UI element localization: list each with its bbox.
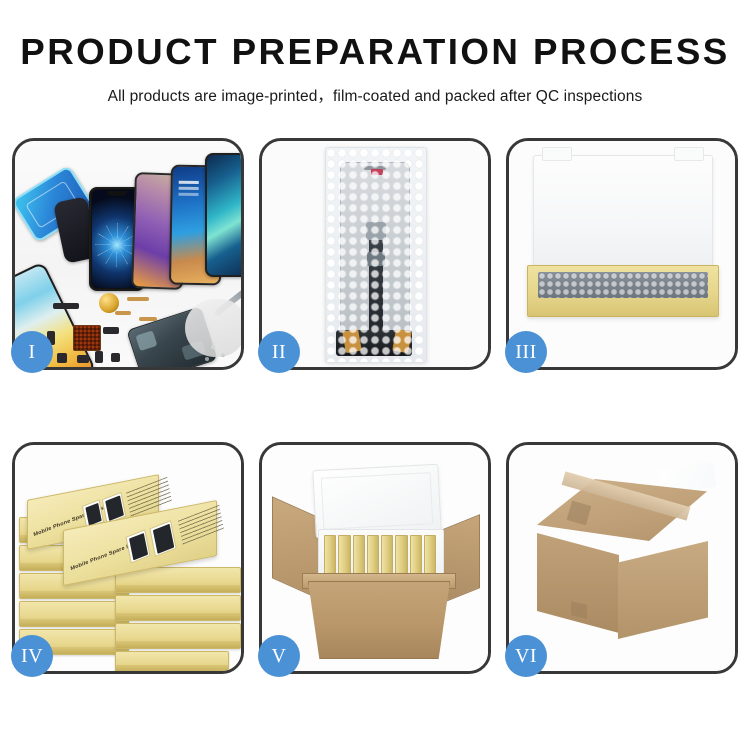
chip-part-2 (57, 353, 67, 363)
flex-cable-1 (127, 297, 149, 301)
screen-notch (107, 191, 127, 196)
process-step-grid: I (12, 138, 738, 674)
gold-box-stack: Mobile Phone Spare Parts Mobile Phone Sp… (19, 463, 241, 663)
chip-part-1 (53, 303, 79, 309)
bubble-wrap-bag (325, 147, 427, 363)
carton-body (308, 581, 450, 659)
step-badge-4: IV (11, 635, 53, 677)
carton-packing-photo (262, 445, 488, 671)
carton-right-face (618, 541, 708, 639)
foam-lid-open (312, 464, 441, 539)
driver-ic-chip (367, 252, 385, 266)
step-badge-5: V (258, 635, 300, 677)
gold-box-r3 (115, 623, 241, 649)
bubble-wrapped-screen-photo (262, 141, 488, 367)
step-4-image: Mobile Phone Spare Parts Mobile Phone Sp… (15, 445, 241, 671)
process-step-2: II (259, 138, 491, 370)
step-5-image (262, 445, 488, 671)
gold-box-r4 (115, 651, 229, 671)
process-step-6: VI (506, 442, 738, 674)
process-step-5: V (259, 442, 491, 674)
stacked-gold-boxes-photo: Mobile Phone Spare Parts Mobile Phone Sp… (15, 445, 241, 671)
step-3-image (509, 141, 735, 367)
white-foam-lid (533, 155, 713, 281)
hand-silhouette (185, 299, 241, 357)
step-badge-6-label: VI (515, 646, 537, 666)
step-badge-3: III (505, 331, 547, 373)
process-step-3: III (506, 138, 738, 370)
chip-part-5 (111, 353, 120, 362)
step-badge-2: II (258, 331, 300, 373)
bubble-wrapped-contents (538, 272, 708, 298)
teal-swirl-phone (205, 153, 241, 277)
gold-box-tray (527, 265, 719, 317)
step-6-image (509, 445, 735, 671)
process-step-4: Mobile Phone Spare Parts Mobile Phone Sp… (12, 442, 244, 674)
gold-box-r2 (115, 595, 241, 621)
display-flex-cable (369, 236, 383, 332)
gold-coil-part (99, 293, 119, 313)
page-title: PRODUCT PREPARATION PROCESS (0, 34, 750, 70)
phone-parts-photo (15, 141, 241, 367)
screw-3 (205, 357, 209, 361)
step-1-image (15, 141, 241, 367)
step-badge-1-label: I (28, 342, 35, 362)
sealed-carton-photo (509, 445, 735, 671)
step-badge-3-label: III (515, 342, 536, 362)
copper-grid-part (73, 325, 101, 351)
step-badge-5-label: V (272, 646, 287, 666)
product-preparation-infographic: PRODUCT PREPARATION PROCESS All products… (0, 0, 750, 750)
lid-screen-thumb-c (126, 529, 151, 563)
step-badge-6: VI (505, 635, 547, 677)
lid-spec-lines-front (178, 505, 224, 546)
header: PRODUCT PREPARATION PROCESS All products… (0, 0, 750, 106)
step-badge-2-label: II (272, 342, 286, 362)
carton-front-face (537, 533, 619, 633)
lid-screen-thumb-d (149, 520, 176, 557)
step-badge-1: I (11, 331, 53, 373)
chip-part-7 (103, 327, 119, 334)
step-2-image (262, 141, 488, 367)
flex-cable-2 (139, 317, 157, 321)
chip-part-3 (77, 355, 89, 363)
open-gold-box-photo (509, 141, 735, 367)
chip-part-4 (95, 351, 103, 363)
flex-cable-3 (115, 311, 131, 315)
step-badge-4-label: IV (21, 646, 43, 666)
page-subtitle: All products are image-printed，film-coat… (0, 84, 750, 106)
gold-box-l4 (19, 601, 129, 627)
red-label-sticker (371, 169, 383, 175)
process-step-1: I (12, 138, 244, 370)
